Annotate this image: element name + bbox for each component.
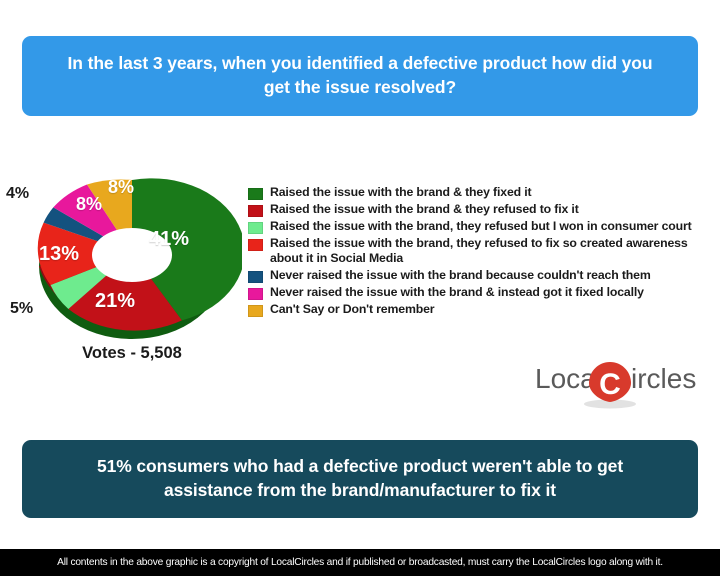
legend-swatch-icon	[248, 288, 263, 300]
legend-item[interactable]: Raised the issue with the brand, they re…	[248, 219, 700, 235]
conclusion-text: 51% consumers who had a defective produc…	[56, 455, 664, 502]
legend-label: Can't Say or Don't remember	[270, 302, 434, 318]
legend-label: Never raised the issue with the brand & …	[270, 285, 644, 301]
legend-label: Raised the issue with the brand, they re…	[270, 219, 692, 235]
pie-label-13: 13%	[39, 243, 79, 266]
localcircles-logo-svg: Local C ircles	[533, 358, 703, 410]
legend-item[interactable]: Raised the issue with the brand & they f…	[248, 185, 700, 201]
pie-label-8-gold: 8%	[108, 177, 134, 198]
pie-label-41: 41%	[149, 228, 189, 251]
legend-swatch-icon	[248, 305, 263, 317]
pie-label-5: 5%	[10, 300, 33, 318]
question-text: In the last 3 years, when you identified…	[56, 52, 664, 99]
chart-area: 41% 21% 5% 13% 4% 8% 8% Votes - 5,508 Ra…	[0, 140, 720, 390]
legend-label: Raised the issue with the brand, they re…	[270, 236, 700, 268]
legend-label: Raised the issue with the brand & they f…	[270, 185, 531, 201]
pie-label-4: 4%	[6, 185, 29, 203]
pie-label-8-magenta: 8%	[76, 194, 102, 215]
votes-label: Votes - 5,508	[22, 344, 242, 363]
logo-pin-letter: C	[599, 368, 621, 401]
legend-swatch-icon	[248, 271, 263, 283]
legend-swatch-icon	[248, 188, 263, 200]
legend-item[interactable]: Raised the issue with the brand & they r…	[248, 202, 700, 218]
legend-swatch-icon	[248, 239, 263, 251]
copyright-footer: All contents in the above graphic is a c…	[0, 549, 720, 576]
pie-chart: 41% 21% 5% 13% 4% 8% 8%	[22, 150, 242, 350]
pie-label-21: 21%	[95, 290, 135, 313]
copyright-text: All contents in the above graphic is a c…	[57, 557, 663, 568]
legend-item[interactable]: Raised the issue with the brand, they re…	[248, 236, 700, 268]
legend-swatch-icon	[248, 205, 263, 217]
legend-swatch-icon	[248, 222, 263, 234]
legend-item[interactable]: Never raised the issue with the brand & …	[248, 285, 700, 301]
chart-legend: Raised the issue with the brand & they f…	[248, 185, 700, 319]
question-banner: In the last 3 years, when you identified…	[22, 36, 698, 116]
conclusion-banner: 51% consumers who had a defective produc…	[22, 440, 698, 518]
legend-label: Raised the issue with the brand & they r…	[270, 202, 579, 218]
logo-text-right: ircles	[631, 363, 696, 394]
localcircles-logo[interactable]: Local C ircles	[533, 358, 703, 410]
legend-item[interactable]: Never raised the issue with the brand be…	[248, 268, 700, 284]
legend-label: Never raised the issue with the brand be…	[270, 268, 651, 284]
legend-item[interactable]: Can't Say or Don't remember	[248, 302, 700, 318]
